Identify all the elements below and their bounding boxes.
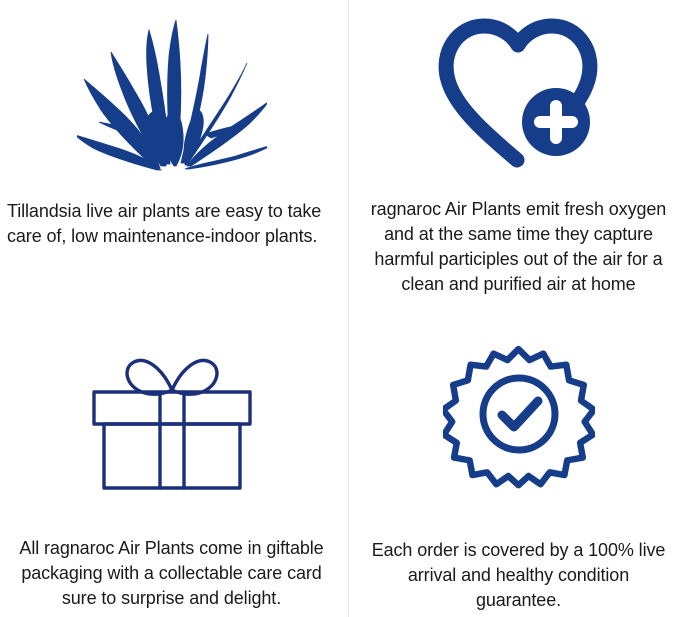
air-plant-icon [77,14,267,179]
feature-text-gift-packaging: All ragnaroc Air Plants come in giftable… [5,536,338,611]
feature-text-air-quality: ragnaroc Air Plants emit fresh oxygen an… [366,197,671,297]
feature-text-air-plant: Tillandsia live air plants are easy to t… [5,199,338,249]
heart-plus-icon-area [366,0,671,197]
guarantee-badge-icon [443,340,595,490]
feature-grid: Tillandsia live air plants are easy to t… [0,0,679,617]
heart-plus-icon [434,12,604,172]
feature-cell-guarantee: Each order is covered by a 100% live arr… [348,308,679,617]
guarantee-badge-icon-area [366,308,671,538]
feature-cell-air-quality: ragnaroc Air Plants emit fresh oxygen an… [348,0,679,308]
feature-cell-gift-packaging: All ragnaroc Air Plants come in giftable… [0,308,348,617]
feature-cell-air-plant: Tillandsia live air plants are easy to t… [0,0,348,308]
gift-box-icon-area [5,308,338,536]
gift-box-icon [84,338,260,493]
feature-text-guarantee: Each order is covered by a 100% live arr… [366,538,671,613]
air-plant-icon-area [5,0,338,199]
